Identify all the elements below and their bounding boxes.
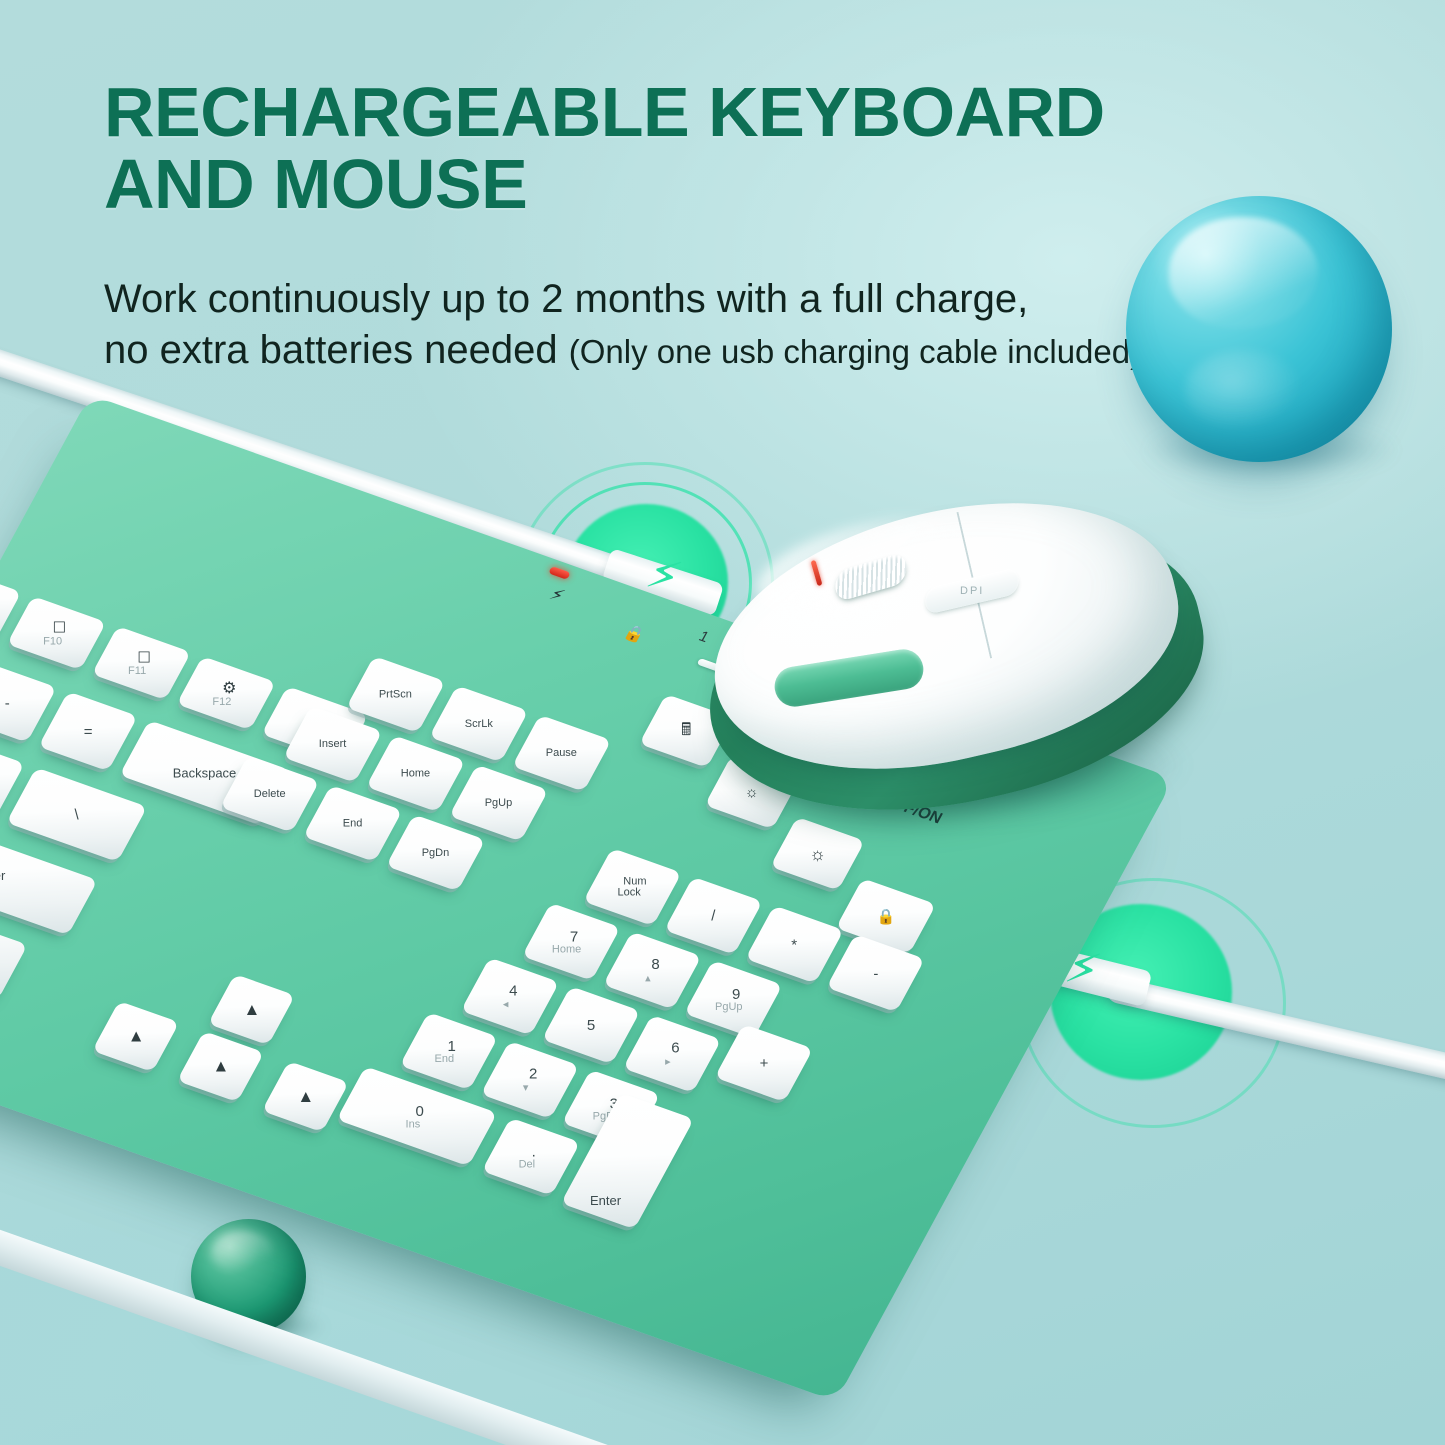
sphere-highlight — [1169, 217, 1318, 329]
mouse[interactable]: DPI — [706, 506, 1216, 826]
product-marketing-image: RECHARGEABLE KEYBOARD AND MOUSE Work con… — [0, 0, 1445, 1445]
subtitle-line-2-main: no extra batteries needed — [104, 328, 569, 372]
sphere-secondary-highlight — [1185, 350, 1302, 430]
page-title: RECHARGEABLE KEYBOARD AND MOUSE — [104, 76, 1334, 220]
subtitle-paren-note: (Only one usb charging cable included) — [569, 333, 1141, 370]
cyan-sphere-decoration — [1126, 196, 1392, 462]
headline-line-2: AND MOUSE — [104, 148, 1334, 220]
headline-line-1: RECHARGEABLE KEYBOARD — [104, 73, 1105, 151]
